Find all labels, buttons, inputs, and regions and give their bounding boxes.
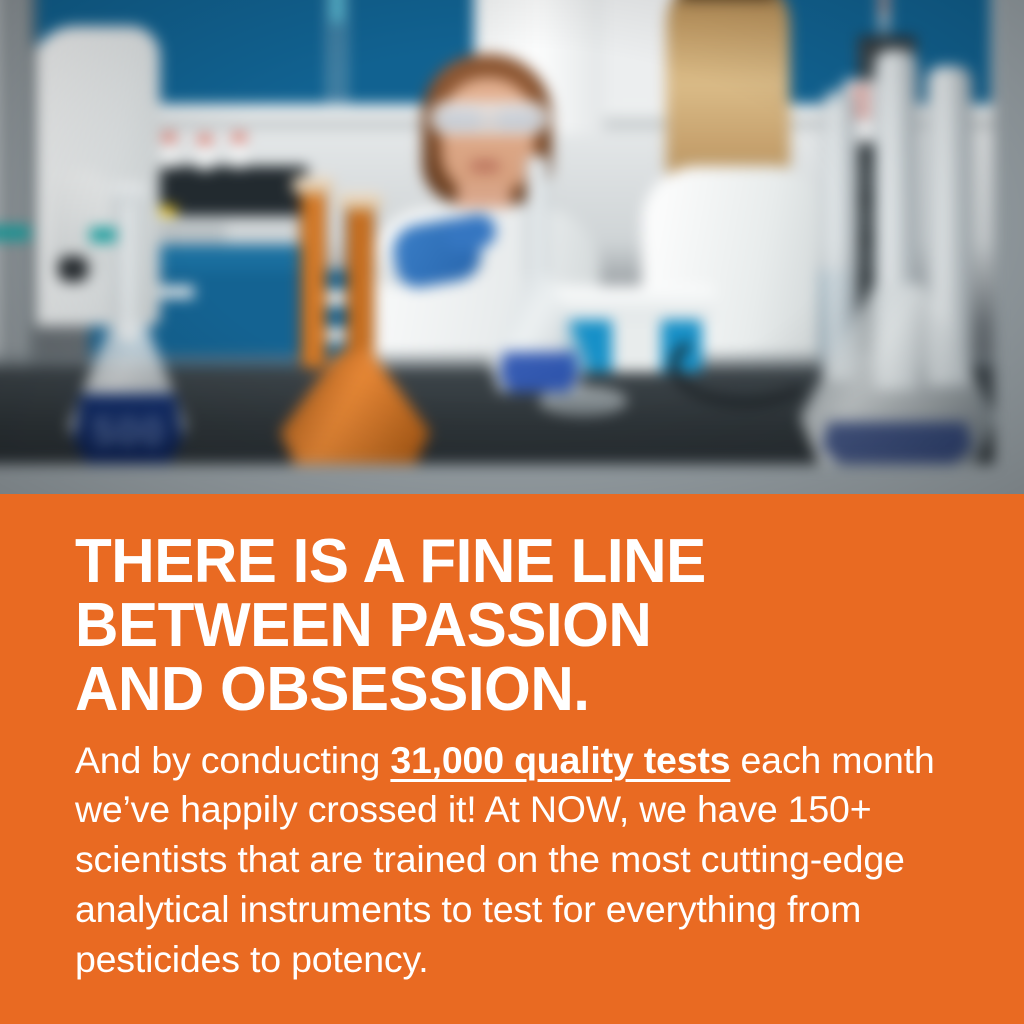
lab-photo: 500	[0, 0, 1024, 494]
body-text-part-1: And by conducting	[75, 739, 390, 781]
headline-line-2: BETWEEN PASSION	[75, 594, 928, 658]
page-title: THERE IS A FINE LINE BETWEEN PASSION AND…	[75, 530, 928, 722]
promo-card: 500 THERE IS A FINE LINE BETWEEN PASSION…	[0, 0, 1024, 1024]
orange-copy-panel: THERE IS A FINE LINE BETWEEN PASSION AND…	[0, 494, 1024, 1024]
headline-line-1: THERE IS A FINE LINE	[75, 530, 928, 594]
quality-tests-stat: 31,000 quality tests	[390, 739, 730, 781]
photo-vignette	[0, 0, 1024, 494]
body-paragraph: And by conducting 31,000 quality tests e…	[75, 736, 954, 985]
headline-line-3: AND OBSESSION.	[75, 658, 928, 722]
